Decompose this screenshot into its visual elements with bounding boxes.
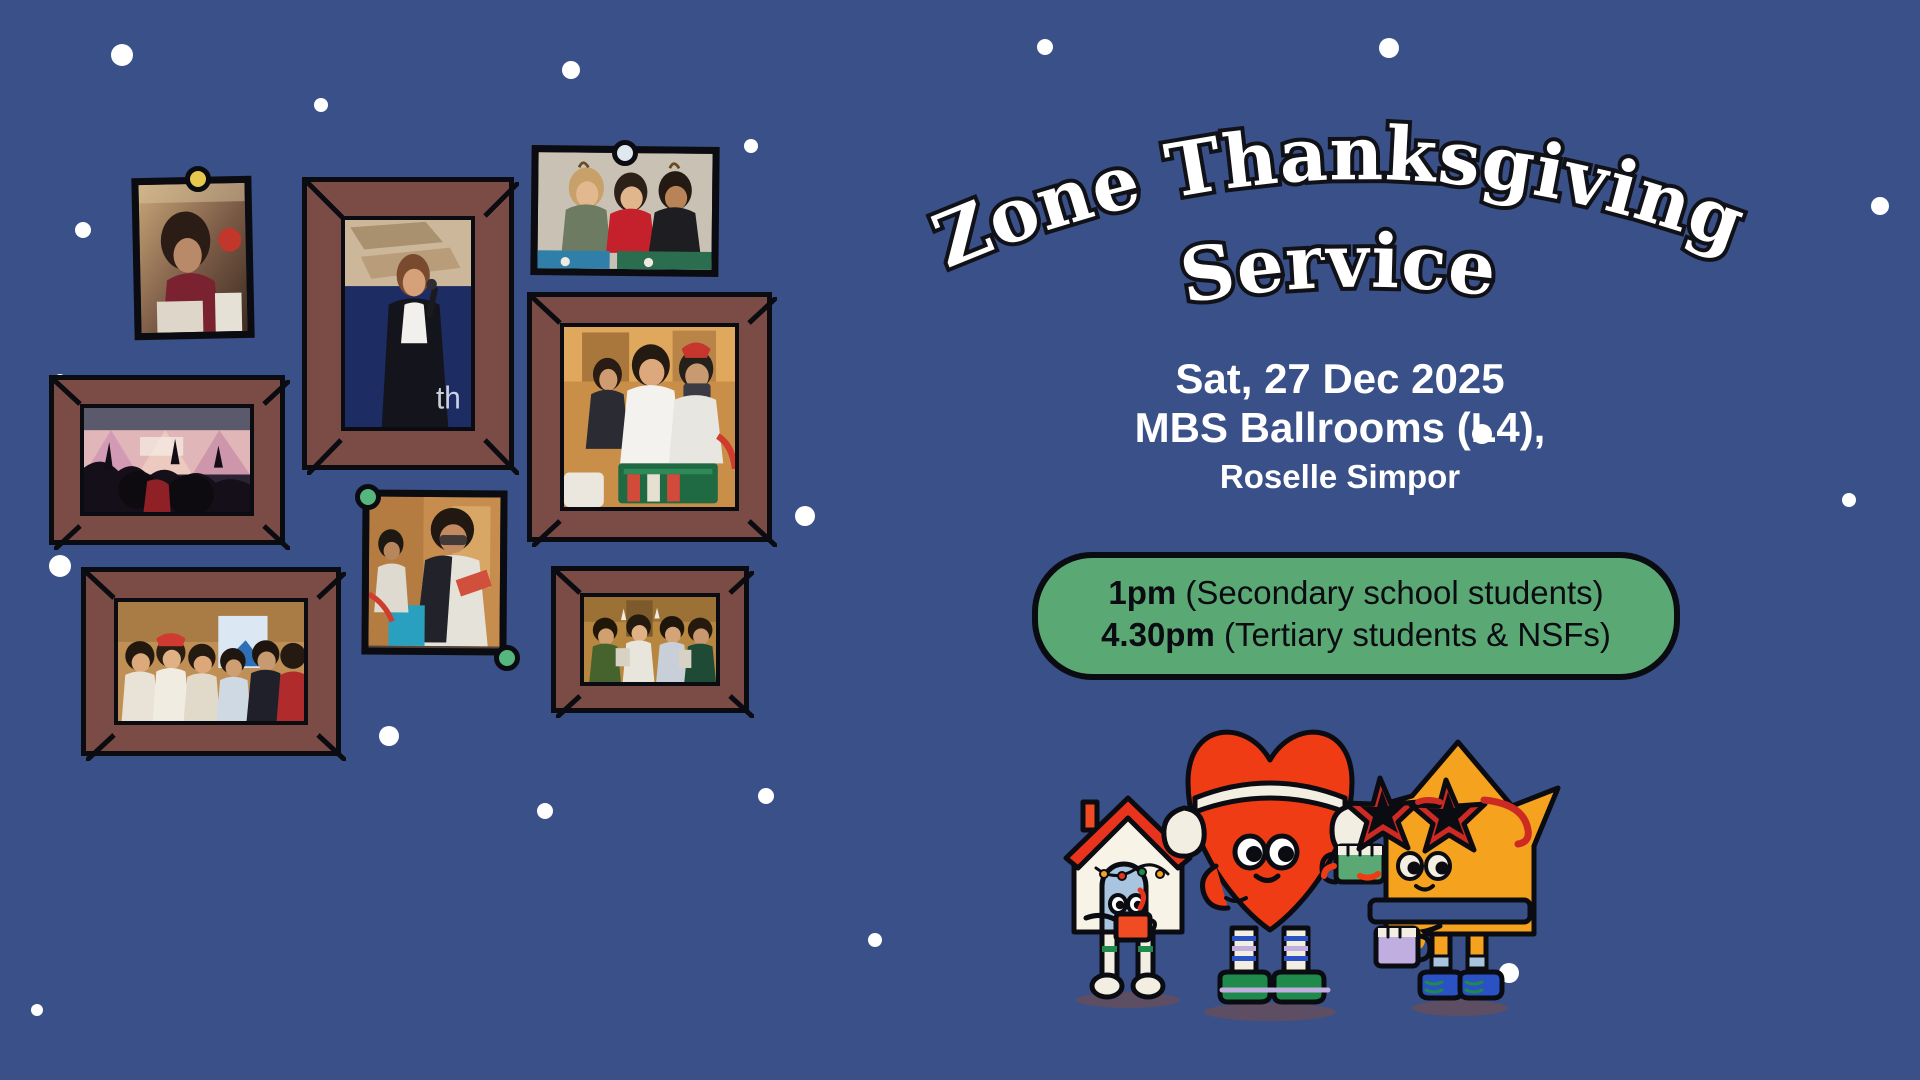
photo-student-holding-gift (361, 489, 507, 655)
photo-students-at-gift-crate-image (560, 323, 739, 511)
pin-white (612, 140, 638, 166)
heart-mascot (1164, 732, 1384, 1021)
background-dot (744, 139, 758, 153)
background-dot (795, 506, 815, 526)
mascot-group (1060, 660, 1640, 1040)
session-2-audience: (Tertiary students & NSFs) (1215, 616, 1611, 653)
photo-group-selfie-santa-hats (81, 567, 341, 756)
photo-students-at-gift-crate (527, 292, 772, 542)
poster-canvas: th (0, 0, 1920, 1080)
pin-green-top (355, 484, 381, 510)
background-dot (868, 933, 882, 947)
pin-green-bottom (494, 645, 520, 671)
event-venue-line-1: MBS Ballrooms (L4), (930, 404, 1750, 453)
photo-crowd-cheering-lights (49, 375, 285, 545)
session-1-time: 1pm (1108, 574, 1176, 611)
pin-yellow (185, 166, 211, 192)
poster-title-svg: Zone Thanksgiving Service (930, 120, 1750, 320)
background-dot (1037, 39, 1053, 55)
background-dot (1842, 493, 1856, 507)
mascot-illustration (1060, 660, 1640, 1040)
photo-friends-posing-peace-signs (551, 566, 749, 713)
background-dot (379, 726, 399, 746)
title-line-2: Service (1174, 219, 1501, 321)
photo-speaker-with-microphone-image: th (341, 216, 475, 431)
background-dot (75, 222, 91, 238)
session-row-2: 4.30pm (Tertiary students & NSFs) (1038, 614, 1674, 656)
background-dot (1871, 197, 1889, 215)
background-dot (758, 788, 774, 804)
svg-text:th: th (436, 381, 461, 416)
photo-friends-posing-peace-signs-image (580, 593, 720, 686)
background-dot (1379, 38, 1399, 58)
photo-crowd-cheering-lights-image (80, 404, 254, 516)
background-dot (31, 1004, 43, 1016)
event-details: Sat, 27 Dec 2025 MBS Ballrooms (L4), Ros… (930, 355, 1750, 499)
session-1-audience: (Secondary school students) (1176, 574, 1603, 611)
photo-speaker-with-microphone: th (302, 177, 514, 470)
photo-girl-with-gift-bag (131, 176, 254, 340)
poster-title: Zone Thanksgiving Service (930, 120, 1750, 320)
photo-girl-with-gift-bag-image (138, 183, 247, 333)
session-row-1: 1pm (Secondary school students) (1038, 572, 1674, 614)
background-dot (562, 61, 580, 79)
session-2-time: 4.30pm (1101, 616, 1215, 653)
event-venue-line-2: Roselle Simpor (930, 456, 1750, 499)
photo-group-selfie-santa-hats-image (114, 598, 308, 725)
background-dot (537, 803, 553, 819)
event-date: Sat, 27 Dec 2025 (930, 355, 1750, 404)
background-dot (111, 44, 133, 66)
background-dot (49, 555, 71, 577)
background-dot (314, 98, 328, 112)
